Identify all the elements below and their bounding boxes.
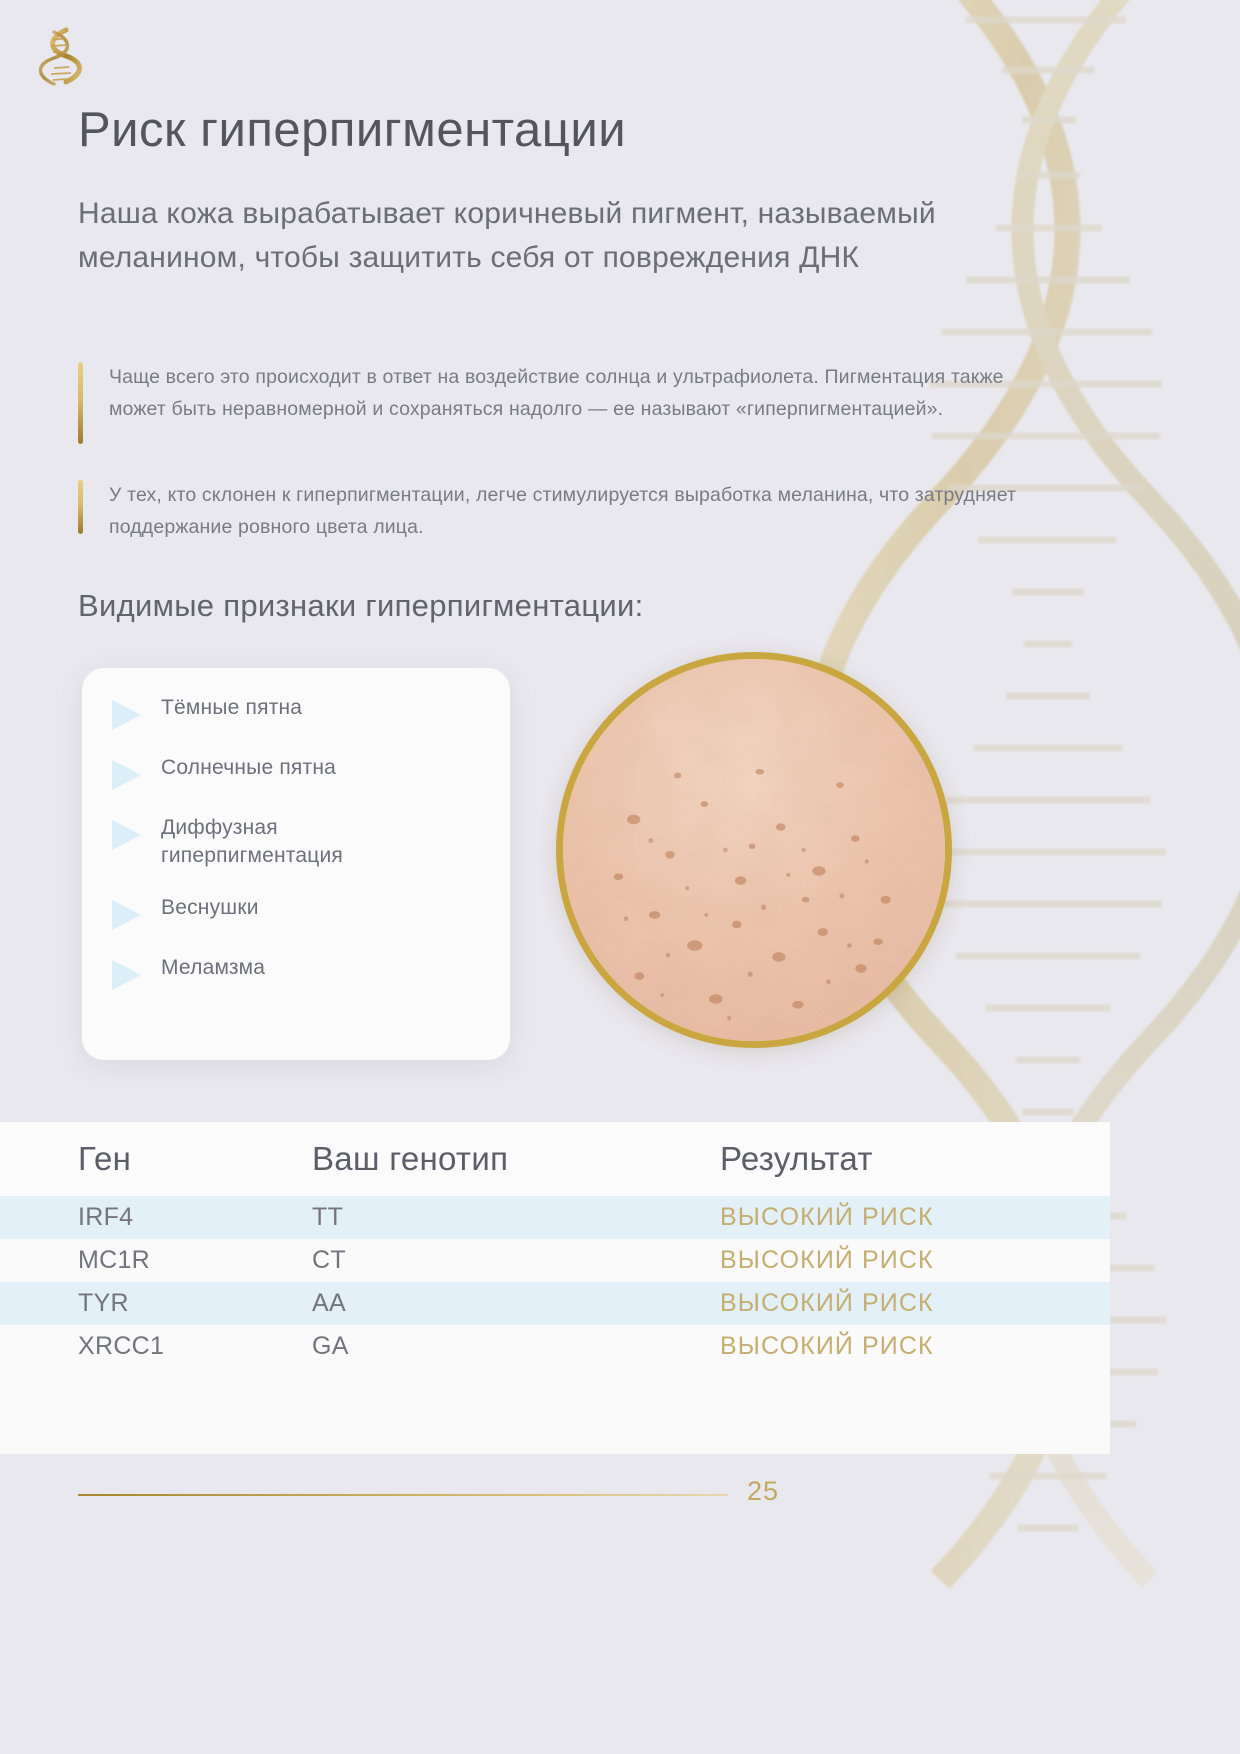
cell-genotype: AA: [312, 1289, 720, 1318]
accent-bar: [78, 362, 83, 444]
triangle-right-icon: [112, 760, 141, 790]
callout-block: У тех, кто склонен к гиперпигментации, л…: [78, 480, 1018, 543]
list-item-label: Тёмные пятна: [161, 694, 302, 722]
column-header-genotype: Ваш генотип: [312, 1140, 720, 1178]
table-row: XRCC1 GA ВЫСОКИЙ РИСК: [0, 1325, 1110, 1368]
skin-closeup-photo: [556, 652, 952, 1048]
table-header-row: Ген Ваш генотип Результат: [0, 1122, 1110, 1196]
table-row: IRF4 TT ВЫСОКИЙ РИСК: [0, 1196, 1110, 1239]
cell-genotype: CT: [312, 1246, 720, 1275]
footer-divider: [78, 1494, 728, 1496]
table-bottom-filler: [0, 1368, 1110, 1454]
triangle-right-icon: [112, 900, 141, 930]
list-item: Тёмные пятна: [82, 694, 510, 730]
list-item-label: Меламзма: [161, 954, 265, 982]
cell-gene: MC1R: [0, 1246, 312, 1275]
accent-bar: [78, 480, 83, 534]
list-item: Меламзма: [82, 954, 510, 990]
cell-gene: XRCC1: [0, 1332, 312, 1361]
callout-block: Чаще всего это происходит в ответ на воз…: [78, 362, 1018, 444]
report-page: Риск гиперпигментации Наша кожа вырабаты…: [0, 0, 1240, 1754]
section-title: Видимые признаки гиперпигментации:: [78, 588, 644, 624]
callout-text: У тех, кто склонен к гиперпигментации, л…: [109, 480, 1018, 543]
list-item-label: Диффузная гиперпигментация: [161, 814, 451, 870]
column-header-result: Результат: [720, 1140, 1110, 1178]
cell-gene: TYR: [0, 1289, 312, 1318]
cell-genotype: GA: [312, 1332, 720, 1361]
table-row: MC1R CT ВЫСОКИЙ РИСК: [0, 1239, 1110, 1282]
cell-genotype: TT: [312, 1203, 720, 1232]
list-item-label: Солнечные пятна: [161, 754, 336, 782]
cell-result: ВЫСОКИЙ РИСК: [720, 1332, 1110, 1361]
column-header-gene: Ген: [0, 1140, 312, 1178]
callout-text: Чаще всего это происходит в ответ на воз…: [109, 362, 1018, 444]
dna-helix-icon: [38, 26, 84, 88]
list-item-label: Веснушки: [161, 894, 259, 922]
list-item: Веснушки: [82, 894, 510, 930]
page-subtitle: Наша кожа вырабатывает коричневый пигмен…: [78, 192, 958, 280]
cell-gene: IRF4: [0, 1203, 312, 1232]
list-item: Солнечные пятна: [82, 754, 510, 790]
genotype-results-table: Ген Ваш генотип Результат IRF4 TT ВЫСОКИ…: [0, 1122, 1110, 1454]
page-title: Риск гиперпигментации: [78, 102, 626, 158]
visible-signs-card: Тёмные пятна Солнечные пятна Диффузная г…: [82, 668, 510, 1060]
table-row: TYR AA ВЫСОКИЙ РИСК: [0, 1282, 1110, 1325]
page-number: 25: [728, 1476, 798, 1507]
list-item: Диффузная гиперпигментация: [82, 814, 510, 870]
triangle-right-icon: [112, 960, 141, 990]
cell-result: ВЫСОКИЙ РИСК: [720, 1246, 1110, 1275]
cell-result: ВЫСОКИЙ РИСК: [720, 1203, 1110, 1232]
triangle-right-icon: [112, 700, 141, 730]
cell-result: ВЫСОКИЙ РИСК: [720, 1289, 1110, 1318]
triangle-right-icon: [112, 820, 141, 850]
